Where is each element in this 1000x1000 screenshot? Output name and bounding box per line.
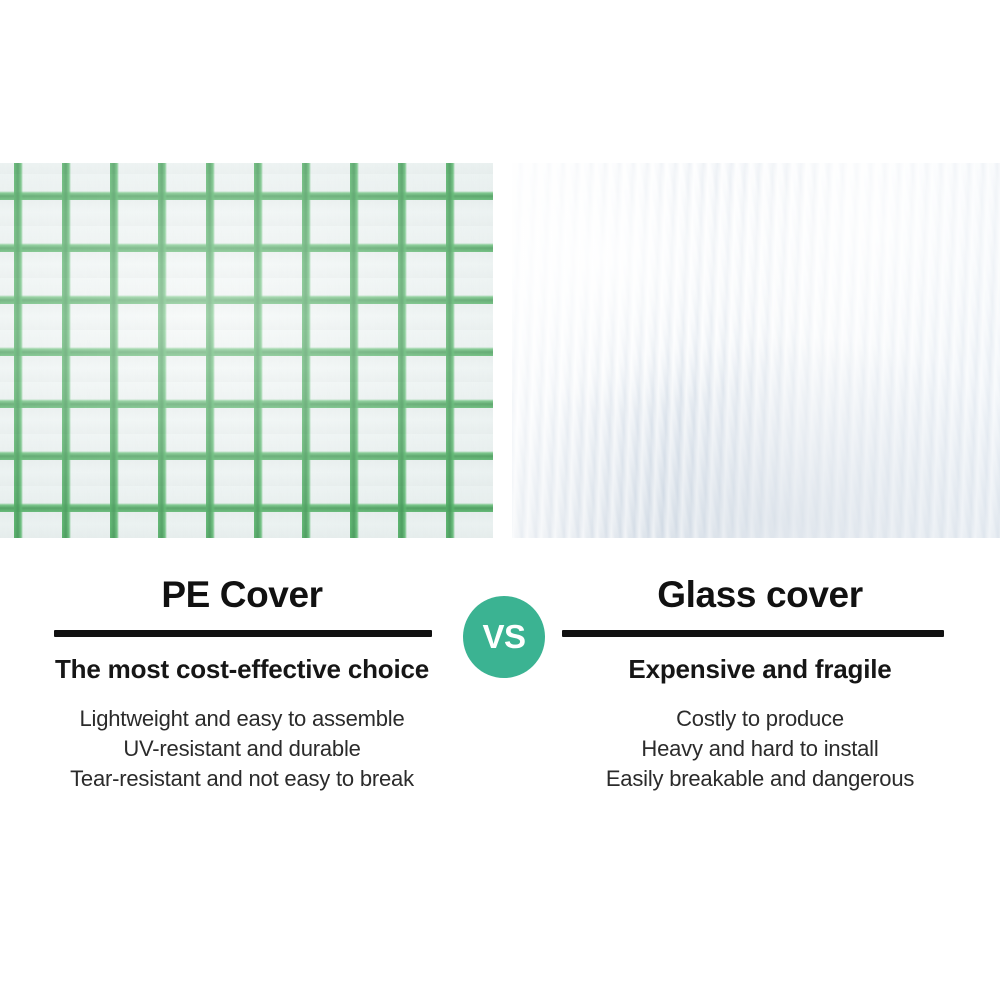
pe-title-divider <box>54 630 432 637</box>
pe-mesh-texture <box>0 163 493 538</box>
comparison-section: PE Cover The most cost-effective choice … <box>0 538 1000 838</box>
photo-comparison-row <box>0 163 1000 538</box>
glass-cover-subtitle: Expensive and fragile <box>540 656 980 682</box>
pe-cover-benefit-list: Lightweight and easy to assemble UV-resi… <box>22 704 462 794</box>
glass-fibre-texture <box>512 163 1000 538</box>
glass-fibre-photo <box>512 163 1000 538</box>
glass-cover-title: Glass cover <box>540 576 980 613</box>
pe-cover-title: PE Cover <box>22 576 462 613</box>
list-item: Lightweight and easy to assemble <box>22 704 462 734</box>
list-item: UV-resistant and durable <box>22 734 462 764</box>
list-item: Easily breakable and dangerous <box>540 764 980 794</box>
pe-cover-subtitle: The most cost-effective choice <box>22 656 462 682</box>
vs-badge: VS <box>463 596 545 678</box>
infographic-page: PE Cover The most cost-effective choice … <box>0 0 1000 1000</box>
list-item: Heavy and hard to install <box>540 734 980 764</box>
list-item: Costly to produce <box>540 704 980 734</box>
list-item: Tear-resistant and not easy to break <box>22 764 462 794</box>
pe-mesh-photo <box>0 163 493 538</box>
glass-title-divider <box>562 630 944 637</box>
vs-badge-label: VS <box>482 620 525 653</box>
glass-cover-drawback-list: Costly to produce Heavy and hard to inst… <box>540 704 980 794</box>
